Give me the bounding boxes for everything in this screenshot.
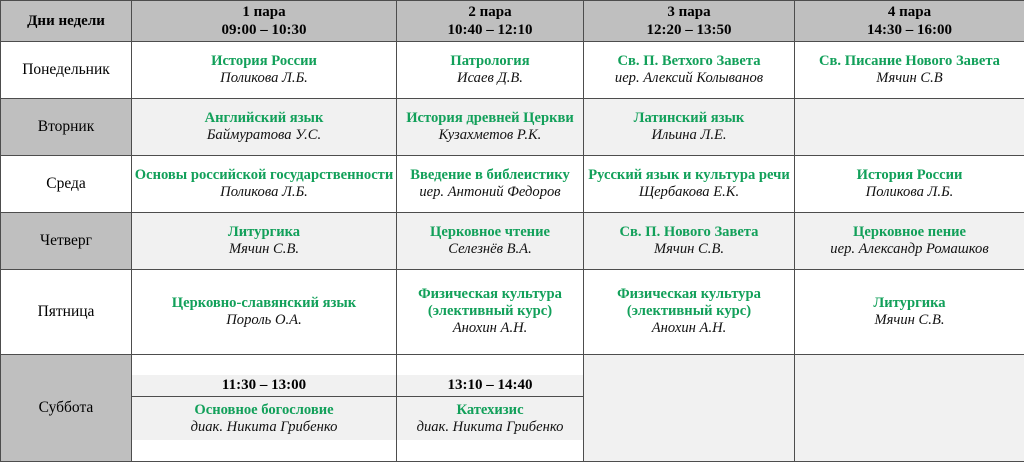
teacher-name: Мячин С.В	[795, 70, 1024, 87]
subject-name: Церковно-славянский язык	[132, 295, 396, 312]
subject-name: Св. П. Нового Завета	[584, 224, 794, 241]
weekly-schedule-table: Дни недели 1 пара 09:00 – 10:30 2 пара 1…	[0, 0, 1024, 462]
day-label-monday: Понедельник	[1, 42, 132, 99]
header-period-1-time: 09:00 – 10:30	[132, 21, 396, 39]
teacher-name: Ильина Л.Е.	[584, 127, 794, 144]
saturday-slot-1-time: 11:30 – 13:00	[132, 375, 396, 397]
teacher-name: Мячин С.В.	[132, 241, 396, 258]
subject-name: Физическая культура (элективный курс)	[584, 286, 794, 320]
header-period-4-name: 4 пара	[795, 3, 1024, 21]
subject-name: История России	[132, 53, 396, 70]
cell-friday-period-1: Церковно-славянский язык Пороль О.А.	[132, 269, 397, 354]
cell-wednesday-period-2: Введение в библеистику иер. Антоний Федо…	[397, 155, 584, 212]
header-period-2-time: 10:40 – 12:10	[397, 21, 583, 39]
teacher-name: Мячин С.В.	[584, 241, 794, 258]
table-row-saturday: Суббота 11:30 – 13:00 Основное богослови…	[1, 354, 1024, 461]
subject-name: Литургика	[132, 224, 396, 241]
teacher-name: Поликова Л.Б.	[132, 184, 396, 201]
teacher-name: Анохин А.Н.	[584, 320, 794, 337]
subject-name: Физическая культура (элективный курс)	[397, 286, 583, 320]
header-day-label: Дни недели	[1, 12, 131, 30]
table-row-thursday: Четверг Литургика Мячин С.В. Церковное ч…	[1, 212, 1024, 269]
day-label-wednesday: Среда	[1, 155, 132, 212]
teacher-name: Анохин А.Н.	[397, 320, 583, 337]
teacher-name: Поликова Л.Б.	[132, 70, 396, 87]
day-label-friday: Пятница	[1, 269, 132, 354]
cell-friday-period-4: Литургика Мячин С.В.	[795, 269, 1024, 354]
day-label-thursday: Четверг	[1, 212, 132, 269]
subject-name: Патрология	[397, 53, 583, 70]
day-label-tuesday: Вторник	[1, 98, 132, 155]
saturday-slot-2-time: 13:10 – 14:40	[397, 375, 583, 397]
saturday-slot-1-body: Основное богословие диак. Никита Грибенк…	[132, 397, 396, 440]
subject-name: Русский язык и культура речи	[584, 167, 794, 184]
cell-monday-period-3: Св. П. Ветхого Завета иер. Алексий Колыв…	[584, 42, 795, 99]
teacher-name: Мячин С.В.	[795, 312, 1024, 329]
header-period-4-time: 14:30 – 16:00	[795, 21, 1024, 39]
cell-thursday-period-1: Литургика Мячин С.В.	[132, 212, 397, 269]
table-row-monday: Понедельник История России Поликова Л.Б.…	[1, 42, 1024, 99]
teacher-name: Баймуратова У.С.	[132, 127, 396, 144]
cell-tuesday-period-3: Латинский язык Ильина Л.Е.	[584, 98, 795, 155]
cell-saturday-slot-2: 13:10 – 14:40 Катехизис диак. Никита Гри…	[397, 354, 584, 461]
cell-tuesday-period-4-empty	[795, 98, 1024, 155]
teacher-name: Кузахметов Р.К.	[397, 127, 583, 144]
header-period-3-time: 12:20 – 13:50	[584, 21, 794, 39]
header-period-4: 4 пара 14:30 – 16:00	[795, 1, 1024, 42]
cell-saturday-period-4-empty	[795, 354, 1024, 461]
cell-wednesday-period-4: История России Поликова Л.Б.	[795, 155, 1024, 212]
cell-saturday-slot-1: 11:30 – 13:00 Основное богословие диак. …	[132, 354, 397, 461]
cell-monday-period-2: Патрология Исаев Д.В.	[397, 42, 584, 99]
subject-name: Св. П. Ветхого Завета	[584, 53, 794, 70]
cell-thursday-period-4: Церковное пение иер. Александр Ромашков	[795, 212, 1024, 269]
table-header-row: Дни недели 1 пара 09:00 – 10:30 2 пара 1…	[1, 1, 1024, 42]
subject-name: Введение в библеистику	[397, 167, 583, 184]
teacher-name: иер. Алексий Колыванов	[584, 70, 794, 87]
header-period-1-name: 1 пара	[132, 3, 396, 21]
cell-thursday-period-2: Церковное чтение Селезнёв В.А.	[397, 212, 584, 269]
header-period-3-name: 3 пара	[584, 3, 794, 21]
subject-name: Латинский язык	[584, 110, 794, 127]
subject-name: Св. Писание Нового Завета	[795, 53, 1024, 70]
cell-tuesday-period-2: История древней Церкви Кузахметов Р.К.	[397, 98, 584, 155]
teacher-name: Пороль О.А.	[132, 312, 396, 329]
subject-name: Английский язык	[132, 110, 396, 127]
table-row-wednesday: Среда Основы российской государственност…	[1, 155, 1024, 212]
cell-friday-period-2: Физическая культура (элективный курс) Ан…	[397, 269, 584, 354]
cell-wednesday-period-3: Русский язык и культура речи Щербакова Е…	[584, 155, 795, 212]
teacher-name: Поликова Л.Б.	[795, 184, 1024, 201]
teacher-name: диак. Никита Грибенко	[403, 419, 577, 436]
subject-name: Основное богословие	[138, 402, 390, 419]
cell-wednesday-period-1: Основы российской государственности Поли…	[132, 155, 397, 212]
header-day-column: Дни недели	[1, 1, 132, 42]
cell-tuesday-period-1: Английский язык Баймуратова У.С.	[132, 98, 397, 155]
teacher-name: Щербакова Е.К.	[584, 184, 794, 201]
header-period-3: 3 пара 12:20 – 13:50	[584, 1, 795, 42]
subject-name: Церковное чтение	[397, 224, 583, 241]
cell-friday-period-3: Физическая культура (элективный курс) Ан…	[584, 269, 795, 354]
subject-name: История России	[795, 167, 1024, 184]
teacher-name: диак. Никита Грибенко	[138, 419, 390, 436]
header-period-1: 1 пара 09:00 – 10:30	[132, 1, 397, 42]
teacher-name: иер. Антоний Федоров	[397, 184, 583, 201]
subject-name: История древней Церкви	[397, 110, 583, 127]
teacher-name: Исаев Д.В.	[397, 70, 583, 87]
cell-thursday-period-3: Св. П. Нового Завета Мячин С.В.	[584, 212, 795, 269]
header-period-2: 2 пара 10:40 – 12:10	[397, 1, 584, 42]
cell-saturday-period-3-empty	[584, 354, 795, 461]
subject-name: Основы российской государственности	[132, 167, 396, 184]
subject-name: Церковное пение	[795, 224, 1024, 241]
saturday-slot-2-body: Катехизис диак. Никита Грибенко	[397, 397, 583, 440]
cell-monday-period-4: Св. Писание Нового Завета Мячин С.В	[795, 42, 1024, 99]
subject-name: Катехизис	[403, 402, 577, 419]
teacher-name: иер. Александр Ромашков	[795, 241, 1024, 258]
header-period-2-name: 2 пара	[397, 3, 583, 21]
table-row-tuesday: Вторник Английский язык Баймуратова У.С.…	[1, 98, 1024, 155]
table-row-friday: Пятница Церковно-славянский язык Пороль …	[1, 269, 1024, 354]
day-label-saturday: Суббота	[1, 354, 132, 461]
subject-name: Литургика	[795, 295, 1024, 312]
teacher-name: Селезнёв В.А.	[397, 241, 583, 258]
cell-monday-period-1: История России Поликова Л.Б.	[132, 42, 397, 99]
